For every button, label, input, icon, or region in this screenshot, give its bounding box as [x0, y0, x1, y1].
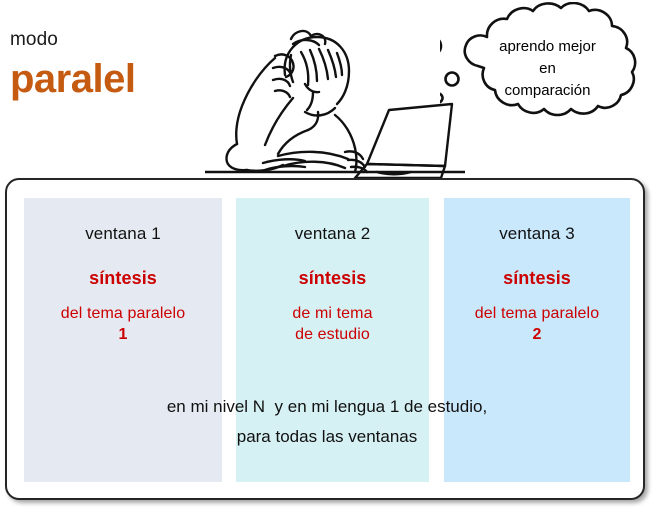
- parallel-mode-panel: ventana 1 síntesis del tema paralelo 1 v…: [5, 178, 645, 500]
- page-title-small: modo: [10, 30, 220, 51]
- windows-columns: ventana 1 síntesis del tema paralelo 1 v…: [7, 180, 643, 498]
- window-label-3: ventana 3: [444, 224, 630, 244]
- window-column-1-content: ventana 1 síntesis del tema paralelo 1: [24, 198, 222, 346]
- window-column-2-content: ventana 2 síntesis de mi tema de estudio: [236, 198, 429, 346]
- window-label-2: ventana 2: [236, 224, 429, 244]
- synthesis-desc-2-line2: de estudio: [236, 324, 429, 345]
- window-column-3-content: ventana 3 síntesis del tema paralelo 2: [444, 198, 630, 346]
- synthesis-desc-1-line1: del tema paralelo: [24, 303, 222, 324]
- window-label-1: ventana 1: [24, 224, 222, 244]
- window-column-3[interactable]: ventana 3 síntesis del tema paralelo 2: [444, 198, 630, 482]
- window-column-2[interactable]: ventana 2 síntesis de mi tema de estudio: [236, 198, 429, 482]
- synthesis-heading-1: síntesis: [24, 268, 222, 289]
- synthesis-heading-2: síntesis: [236, 268, 429, 289]
- synthesis-desc-3-line2: 2: [444, 324, 630, 345]
- window-column-1[interactable]: ventana 1 síntesis del tema paralelo 1: [24, 198, 222, 482]
- page-title-large: paralel: [10, 57, 220, 101]
- title-block: modo paralel: [10, 30, 220, 101]
- synthesis-desc-3-line1: del tema paralelo: [444, 303, 630, 324]
- synthesis-desc-1-line2: 1: [24, 324, 222, 345]
- header-area: modo paralel: [0, 0, 657, 178]
- synthesis-heading-3: síntesis: [444, 268, 630, 289]
- synthesis-desc-2-line1: de mi tema: [236, 303, 429, 324]
- thought-bubble: aprendo mejor en comparación: [440, 2, 655, 130]
- student-illustration: [205, 0, 465, 178]
